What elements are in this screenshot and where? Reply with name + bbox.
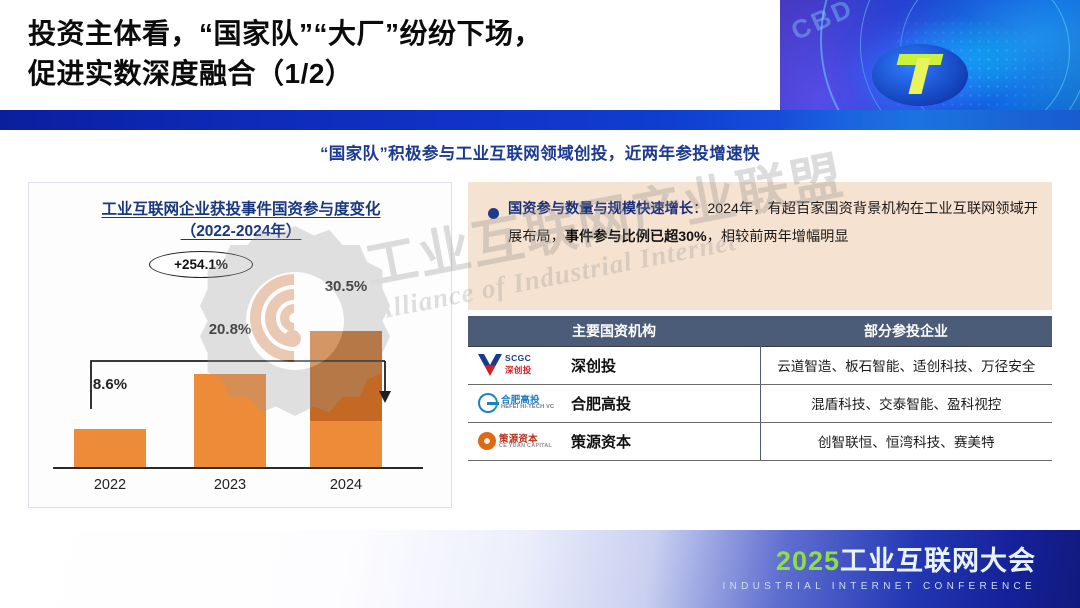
org-name: 深创投 — [571, 355, 616, 376]
chart-title-sub: （2022-2024年） — [29, 221, 453, 243]
org-cell: 合肥高投 HEFEI HI-TECH VC 合肥高投 — [478, 391, 760, 415]
table-body: SCGC 深创投 深创投 云道智造、板石智能、适创科技、万径安全 — [468, 346, 1052, 460]
conference-year: 2025 — [776, 546, 840, 576]
slide-root: CBD 投资主体看，“国家队”“大厂”纷纷下场， 促进实数深度融合（1/2） “… — [0, 0, 1080, 608]
table-cell-org: SCGC 深创投 深创投 — [468, 346, 760, 384]
conference-name: 2025工业互联网大会 — [723, 548, 1036, 575]
bar-chart-plot: +254.1% 8.6% 2022 20.8% 2023 30.5% 2024 — [45, 261, 437, 499]
ceyuan-logo-text-bottom: CE YUAN CAPITAL — [499, 443, 552, 449]
table-head: 主要国资机构 部分参投企业 — [468, 316, 1052, 346]
t-logo-icon — [898, 54, 944, 94]
page-title: 投资主体看，“国家队”“大厂”纷纷下场， 促进实数深度融合（1/2） — [28, 14, 828, 94]
chart-x-axis — [53, 467, 423, 469]
chart-title-main: 工业互联网企业获投事件国资参与度变化 — [101, 201, 380, 218]
bar-group-2022: 8.6% 2022 — [67, 429, 153, 467]
highlight-callout: 国资参与数量与规模快速增长：2024年，有超百家国资背景机构在工业互联网领域开展… — [468, 182, 1052, 310]
bar-category-2022: 2022 — [67, 477, 153, 493]
chart-title: 工业互联网企业获投事件国资参与度变化 （2022-2024年） — [29, 199, 453, 244]
callout-mid2: ，相较前两年增幅明显 — [707, 229, 849, 245]
hefei-logo-mark — [478, 393, 498, 413]
table-cell-companies: 云道智造、板石智能、适创科技、万径安全 — [760, 346, 1052, 384]
conference-name-cn: 工业互联网大会 — [840, 546, 1036, 576]
hefei-logo-text-bottom: HEFEI HI-TECH VC — [501, 404, 554, 410]
page-title-line1: 投资主体看，“国家队”“大厂”纷纷下场， — [28, 14, 828, 54]
table-cell-companies: 创智联恒、恒湾科技、赛美特 — [760, 422, 1052, 460]
header-divider-bar — [0, 110, 1080, 130]
growth-annotation-arrow — [85, 349, 425, 415]
conference-name-en: INDUSTRIAL INTERNET CONFERENCE — [723, 582, 1036, 592]
conference-logo: 2025工业互联网大会 INDUSTRIAL INTERNET CONFEREN… — [723, 548, 1036, 592]
table-cell-org: 合肥高投 HEFEI HI-TECH VC 合肥高投 — [468, 384, 760, 422]
ceyuan-logo-icon: 策源资本 CE YUAN CAPITAL — [478, 429, 564, 453]
org-cell: SCGC 深创投 深创投 — [478, 353, 760, 377]
bar-category-2024: 2024 — [303, 477, 389, 493]
table-cell-org: 策源资本 CE YUAN CAPITAL 策源资本 — [468, 422, 760, 460]
scgc-logo-icon: SCGC 深创投 — [478, 353, 564, 377]
bullet-point-icon — [488, 208, 499, 219]
scgc-logo-text-bottom: 深创投 — [505, 364, 532, 376]
slide-header: CBD 投资主体看，“国家队”“大厂”纷纷下场， 促进实数深度融合（1/2） — [0, 0, 1080, 122]
table-row[interactable]: 策源资本 CE YUAN CAPITAL 策源资本 创智联恒、恒湾科技、赛美特 — [468, 422, 1052, 460]
page-title-line2: 促进实数深度融合（1/2） — [28, 54, 828, 94]
table-header-org: 主要国资机构 — [468, 316, 760, 346]
org-name: 策源资本 — [571, 431, 631, 452]
bar-value-2024: 30.5% — [303, 278, 389, 295]
investor-table: 主要国资机构 部分参投企业 SCGC 深创投 深 — [468, 316, 1052, 461]
growth-rate-badge: +254.1% — [149, 251, 253, 278]
ceyuan-logo-mark — [478, 432, 496, 450]
callout-text: 国资参与数量与规模快速增长：2024年，有超百家国资背景机构在工业互联网领域开展… — [508, 196, 1038, 251]
callout-lead: 国资参与数量与规模快速增长 — [508, 201, 693, 217]
bar-2022 — [74, 429, 146, 467]
section-subtitle: “国家队”积极参与工业互联网领域创投，近两年参投增速快 — [0, 140, 1080, 164]
table-header-row: 主要国资机构 部分参投企业 — [468, 316, 1052, 346]
right-panel: 国资参与数量与规模快速增长：2024年，有超百家国资背景机构在工业互联网领域开展… — [468, 182, 1052, 508]
scgc-logo-text-top: SCGC — [505, 353, 531, 363]
table-header-companies: 部分参投企业 — [760, 316, 1052, 346]
chart-card: 工业互联网企业获投事件国资参与度变化 （2022-2024年） +254.1% … — [28, 182, 452, 508]
hefei-logo-icon: 合肥高投 HEFEI HI-TECH VC — [478, 391, 564, 415]
org-name: 合肥高投 — [571, 393, 631, 414]
callout-sep: ： — [693, 201, 707, 217]
table-row[interactable]: SCGC 深创投 深创投 云道智造、板石智能、适创科技、万径安全 — [468, 346, 1052, 384]
org-cell: 策源资本 CE YUAN CAPITAL 策源资本 — [478, 429, 760, 453]
slide-footer: 2025工业互联网大会 INDUSTRIAL INTERNET CONFEREN… — [0, 530, 1080, 608]
bar-category-2023: 2023 — [187, 477, 273, 493]
callout-bold2: 事件参与比例已超30% — [565, 229, 707, 245]
table-cell-companies: 混盾科技、交泰智能、盈科视控 — [760, 384, 1052, 422]
table-row[interactable]: 合肥高投 HEFEI HI-TECH VC 合肥高投 混盾科技、交泰智能、盈科视… — [468, 384, 1052, 422]
bar-value-2023: 20.8% — [187, 321, 273, 338]
